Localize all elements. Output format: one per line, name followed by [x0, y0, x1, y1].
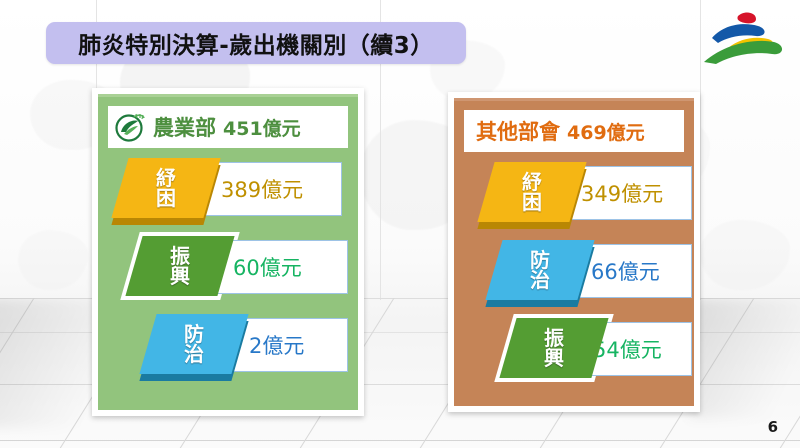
value-text: 2億元 — [249, 330, 304, 360]
budget-row: 2億元 防治 — [108, 310, 348, 378]
world-map-watermark — [700, 220, 790, 290]
panel-header-other-ministries: 其他部會 469億元 — [464, 110, 684, 152]
world-map-watermark — [18, 230, 88, 290]
category-tag-revitalization: 振興 — [499, 318, 608, 378]
agency-total: 469億元 — [567, 118, 645, 145]
tag-label: 紓困 — [522, 172, 542, 212]
page-number: 6 — [768, 418, 778, 436]
category-tag-relief: 紓困 — [477, 162, 586, 222]
page-title: 肺炎特別決算-歲出機關別（續3） — [78, 26, 434, 60]
category-tag-relief: 紓困 — [111, 158, 220, 218]
tag-label: 防治 — [184, 324, 204, 364]
agency-total: 451億元 — [223, 114, 301, 141]
budget-row: 54億元 振興 — [464, 314, 684, 382]
panel-header-agriculture: 農業部 451億元 — [108, 106, 348, 148]
budget-row: 66億元 防治 — [464, 236, 684, 304]
value-text: 389億元 — [221, 174, 303, 204]
tag-label: 紓困 — [156, 168, 176, 208]
panel-agriculture: 農業部 451億元 389億元 紓困 60億元 振興 — [92, 88, 364, 416]
panel-body: 農業部 451億元 389億元 紓困 60億元 振興 — [98, 94, 358, 410]
tag-label: 防治 — [530, 250, 550, 290]
slide-canvas: 肺炎特別決算-歲出機關別（續3） — [0, 0, 800, 448]
tag-label: 振興 — [170, 246, 190, 286]
agency-name: 其他部會 — [476, 116, 560, 146]
panel-other-ministries: 其他部會 469億元 349億元 紓困 66億元 防治 — [448, 92, 700, 412]
category-tag-prevention: 防治 — [485, 240, 594, 300]
budget-row: 389億元 紓困 — [108, 154, 348, 222]
value-text: 60億元 — [233, 252, 302, 282]
value-text: 66億元 — [591, 256, 660, 286]
category-tag-revitalization: 振興 — [125, 236, 234, 296]
running-figure-logo — [698, 6, 790, 68]
tag-label: 振興 — [544, 328, 564, 368]
agency-name: 農業部 — [153, 112, 216, 142]
panel-body: 其他部會 469億元 349億元 紓困 66億元 防治 — [454, 98, 694, 406]
moa-emblem-icon — [114, 111, 146, 143]
value-text: 349億元 — [581, 178, 663, 208]
budget-row: 349億元 紓困 — [464, 158, 684, 226]
category-tag-prevention: 防治 — [139, 314, 248, 374]
value-text: 54億元 — [593, 334, 662, 364]
budget-row: 60億元 振興 — [108, 232, 348, 300]
slide-title-bar: 肺炎特別決算-歲出機關別（續3） — [46, 22, 466, 64]
